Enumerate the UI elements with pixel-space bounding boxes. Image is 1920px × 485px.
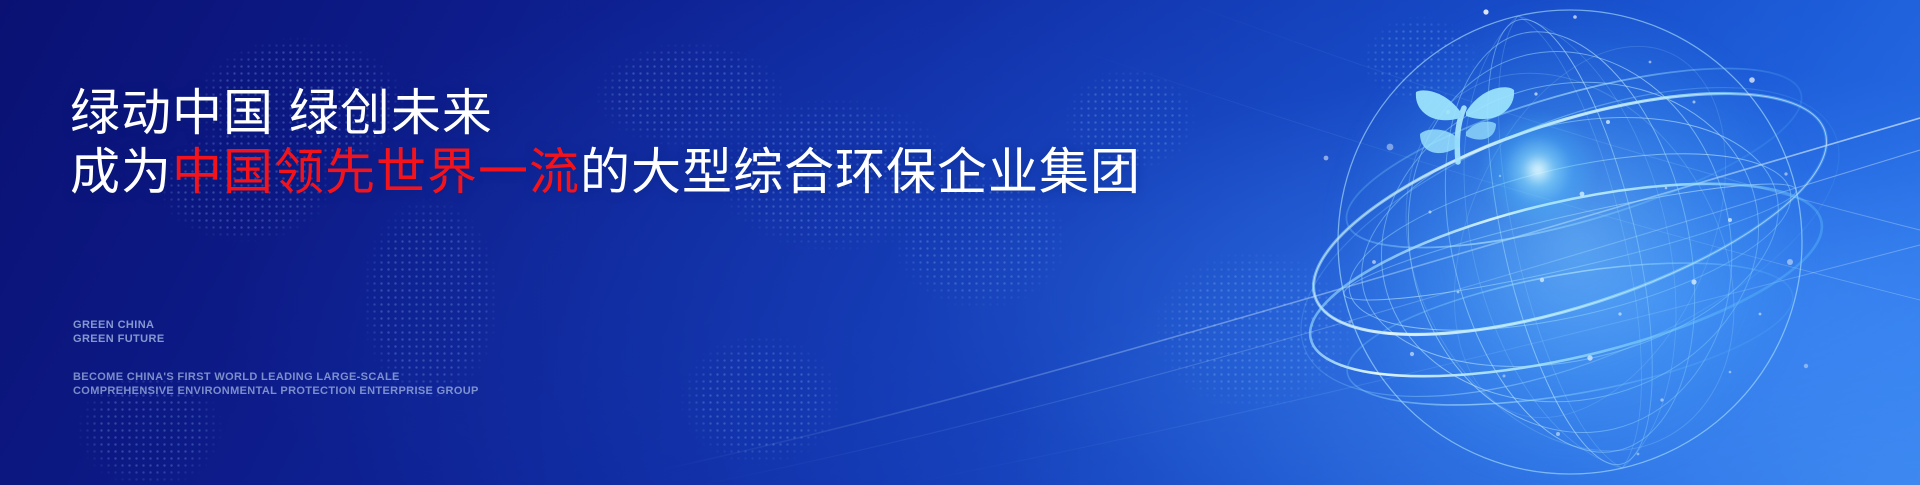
english-slogan-line-1: GREEN CHINA [73,318,165,332]
globe-glow [1330,2,1810,482]
globe-wireframe-icon [1290,0,1850,485]
hero-banner: 绿动中国 绿创未来 成为中国领先世界一流的大型综合环保企业集团 GREEN CH… [0,0,1920,485]
banner-copy: 绿动中国 绿创未来 成为中国领先世界一流的大型综合环保企业集团 GREEN CH… [70,0,1250,485]
english-description-line-1: BECOME CHINA'S FIRST WORLD LEADING LARGE… [73,370,479,384]
headline-line2-highlight: 中国领先世界一流 [172,144,580,200]
headline-line2-prefix: 成为 [70,144,172,200]
english-description-line-2: COMPREHENSIVE ENVIRONMENTAL PROTECTION E… [73,384,479,398]
globe-graphic [1290,0,1850,485]
headline: 绿动中国 绿创未来 成为中国领先世界一流的大型综合环保企业集团 [70,84,1141,202]
english-slogan-line-2: GREEN FUTURE [73,332,165,346]
sprout-leaf-icon [1416,87,1514,162]
english-description: BECOME CHINA'S FIRST WORLD LEADING LARGE… [73,370,479,398]
headline-line-1: 绿动中国 绿创未来 [70,85,493,141]
headline-line-2: 成为中国领先世界一流的大型综合环保企业集团 [70,143,1141,202]
english-slogan: GREEN CHINA GREEN FUTURE [73,318,165,346]
headline-line2-suffix: 的大型综合环保企业集团 [580,144,1141,200]
globe-core-flare [1473,105,1603,235]
